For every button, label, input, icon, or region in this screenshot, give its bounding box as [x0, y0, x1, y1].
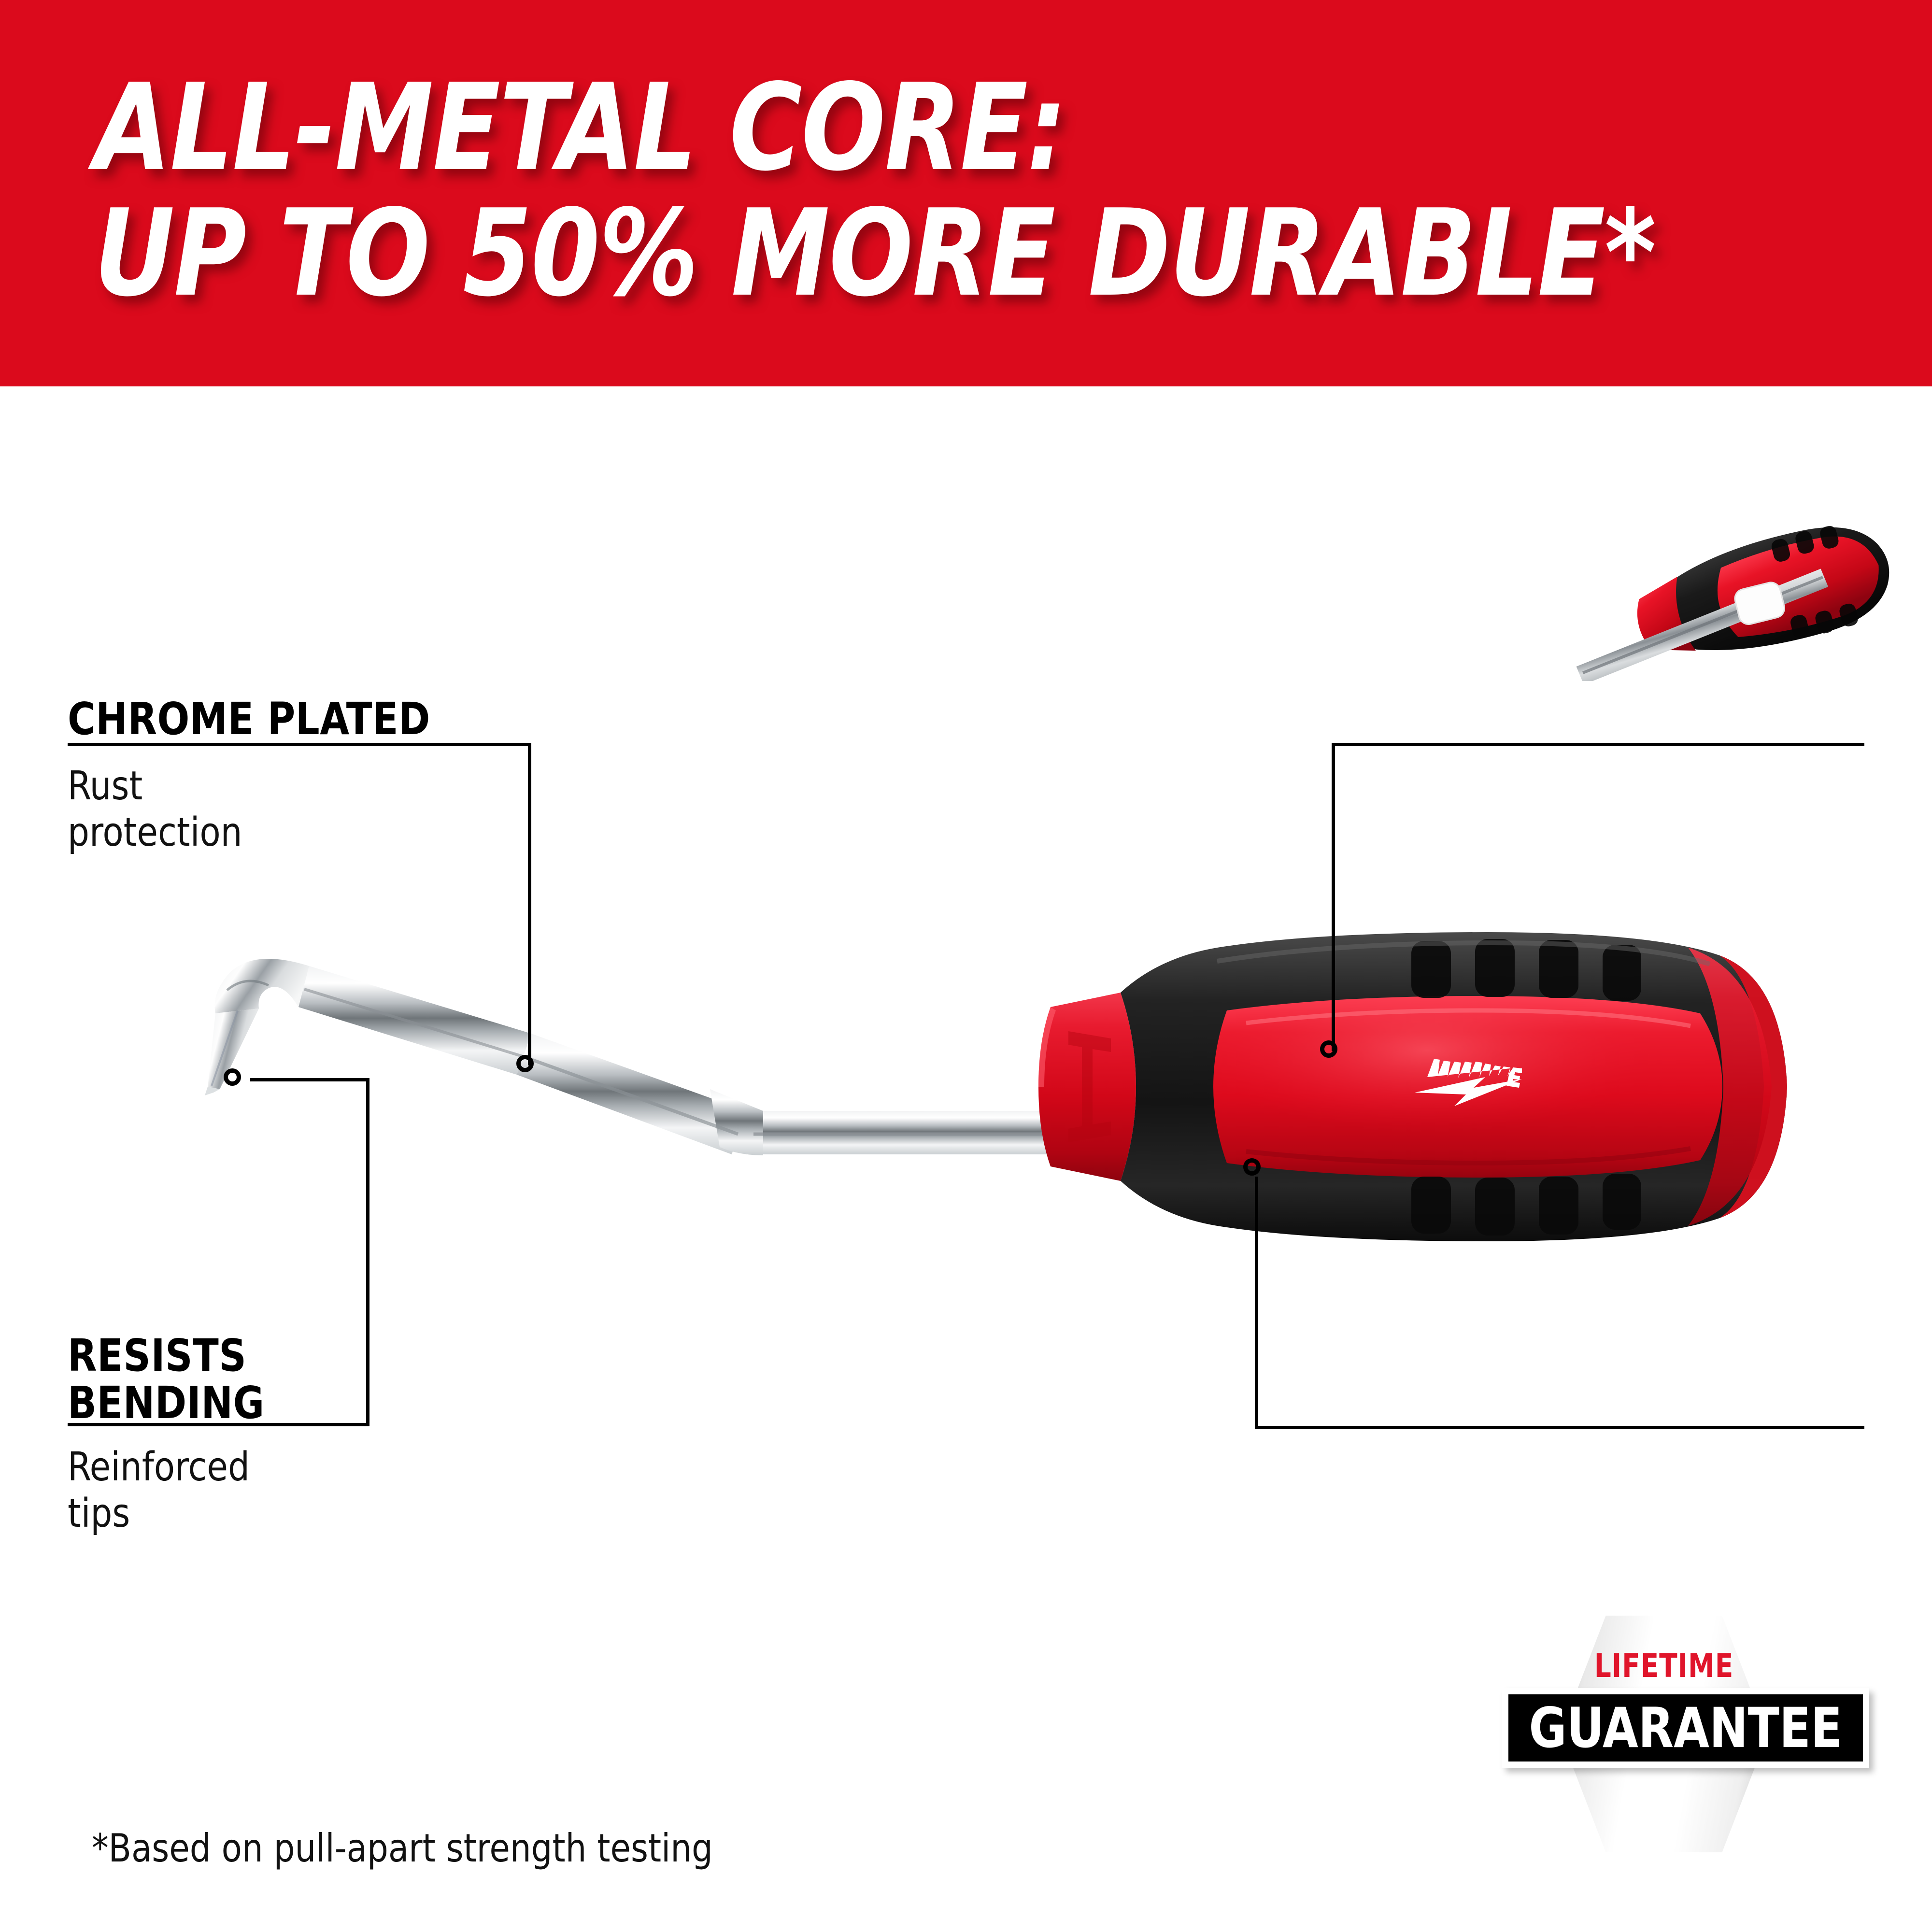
- badge-guarantee-label: GUARANTEE: [1529, 1701, 1843, 1756]
- callout-chrome-plated-title: CHROME PLATED: [68, 696, 430, 743]
- callout-chrome-plated-rule: [68, 743, 531, 746]
- callout-resists-bending-rule: [68, 1423, 369, 1426]
- callout-all-metal-core-ring-marker: [1320, 1040, 1337, 1058]
- callout-comfort-grip-handle-rule: [1255, 1426, 1864, 1429]
- callout-resists-bending-title-line1: RESISTS: [68, 1332, 389, 1379]
- lightning-bolt-icon: [1415, 1077, 1522, 1106]
- headline-line-1: ALL-METAL CORE:: [94, 68, 1066, 188]
- footnote-text: *Based on pull-apart strength testing: [92, 1826, 713, 1871]
- callout-resists-bending-ring-marker: [224, 1068, 241, 1086]
- callout-all-metal-core-rule: [1332, 743, 1864, 746]
- callout-chrome-plated-subtitle: Rust protection: [68, 763, 242, 856]
- headline-line-2: UP TO 50% MORE DURABLE*: [94, 193, 1655, 314]
- callout-resists-bending-leader-vertical: [366, 1078, 369, 1426]
- callout-all-metal-core-leader: [1332, 743, 1335, 1051]
- badge-lifetime-label: LIFETIME: [1571, 1649, 1758, 1683]
- callout-resists-bending-leader-horizontal: [250, 1078, 366, 1081]
- product-illustration-inset-cutaway: [1565, 517, 1922, 681]
- callout-resists-bending-subtitle: Reinforced tips: [68, 1444, 250, 1537]
- callout-chrome-plated-ring-marker: [516, 1055, 534, 1072]
- header-banner: ALL-METAL CORE: UP TO 50% MORE DURABLE*: [0, 0, 1932, 386]
- badge-guarantee-bar: GUARANTEE: [1502, 1688, 1869, 1768]
- milwaukee-logo: [1415, 1059, 1522, 1106]
- callout-comfort-grip-handle-leader: [1255, 1177, 1258, 1428]
- callout-resists-bending-title-line2: BENDING: [68, 1379, 389, 1427]
- lifetime-guarantee-badge: LIFETIME GUARANTEE: [1502, 1616, 1884, 1857]
- callout-chrome-plated-leader: [528, 743, 531, 1065]
- callout-comfort-grip-handle-ring-marker: [1243, 1158, 1261, 1176]
- badge-guarantee-bar-inner: GUARANTEE: [1508, 1694, 1863, 1762]
